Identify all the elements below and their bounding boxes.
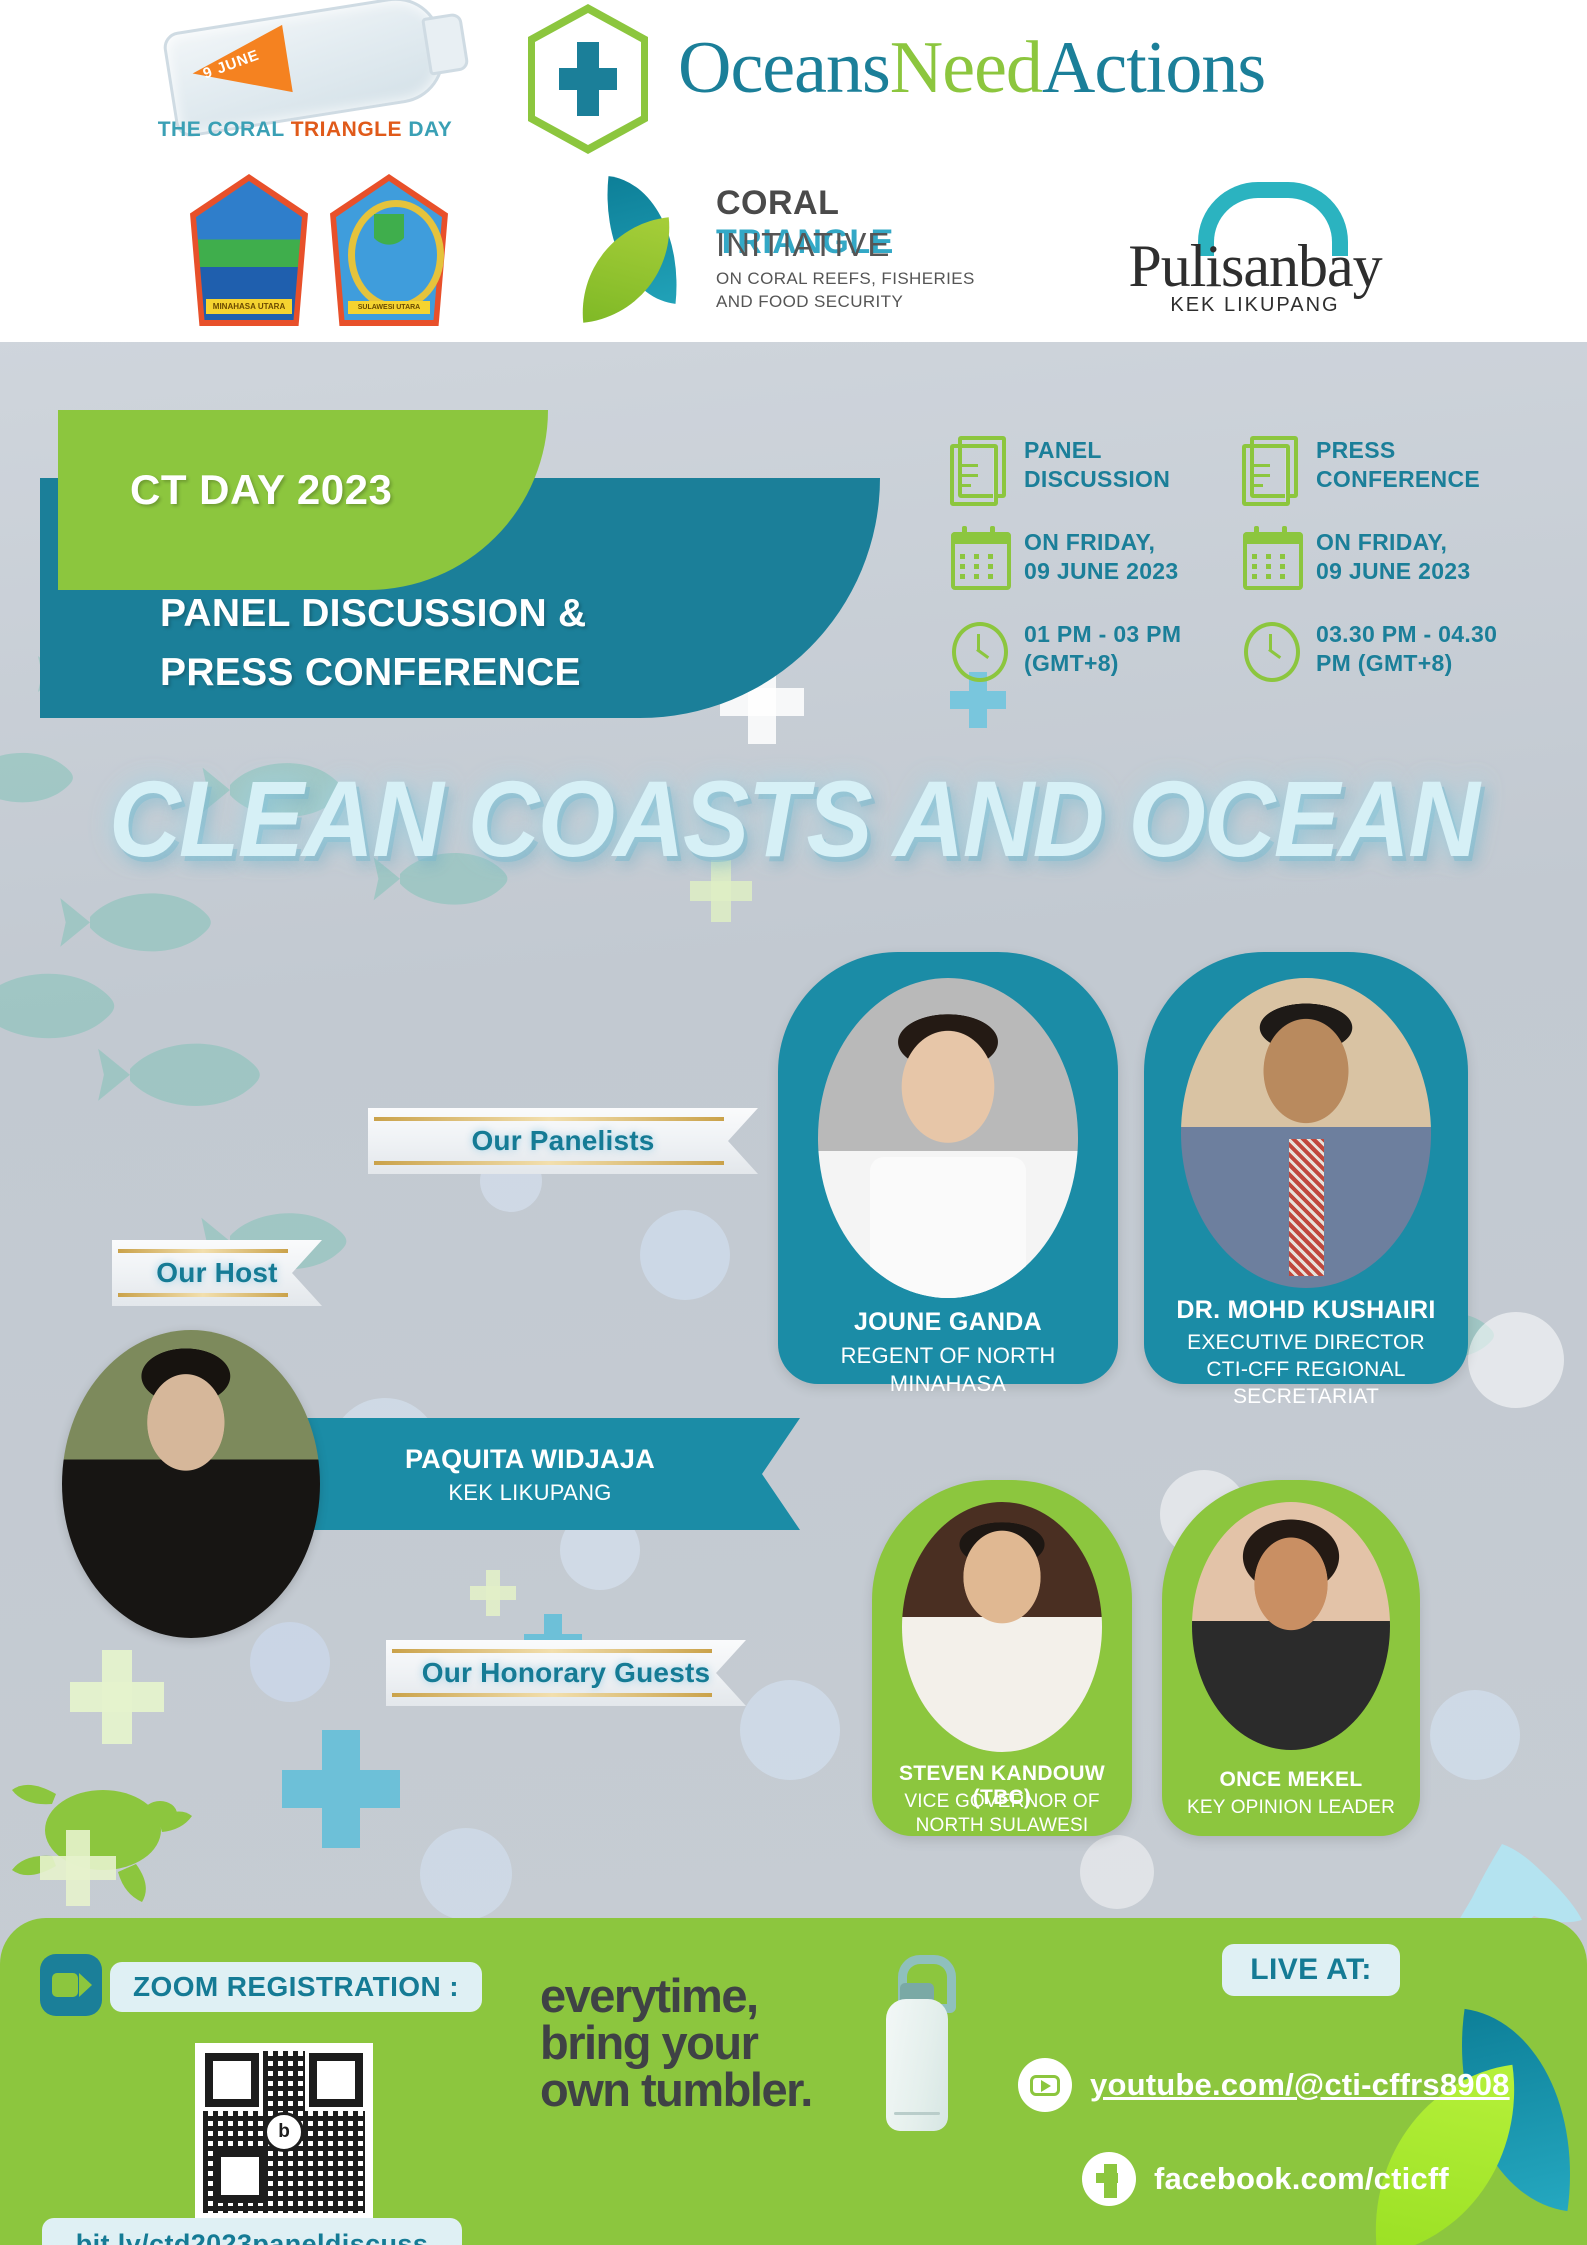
panel-kind-line2: DISCUSSION	[1024, 465, 1170, 494]
main-headline: CLEAN COASTS AND OCEAN	[63, 756, 1523, 881]
cti-leaf-icon	[1357, 2005, 1587, 2245]
panel-kind-line1: PANEL	[1024, 436, 1170, 465]
host-name: PAQUITA WIDJAJA	[300, 1444, 760, 1475]
avatar	[1192, 1502, 1390, 1750]
guest-role: VICE GOVERNOR OF NORTH SULAWESI	[878, 1790, 1126, 1839]
pulisanbay-logo: Pulisanbay KEK LIKUPANG	[1090, 182, 1420, 322]
panel-date: ON FRIDAY, 09 JUNE 2023	[1024, 524, 1178, 587]
guest-card[interactable]: STEVEN KANDOUW (TBC) VICE GOVERNOR OF NO…	[872, 1480, 1132, 1836]
panelist-role-line2: MINAHASA	[784, 1370, 1112, 1398]
guest-role-line1: VICE GOVERNOR OF	[878, 1790, 1126, 1814]
document-icon	[948, 432, 1010, 498]
host-role: KEK LIKUPANG	[300, 1480, 760, 1506]
facebook-url: facebook.com/cticff	[1154, 2161, 1449, 2197]
guest-role: KEY OPINION LEADER	[1168, 1796, 1414, 1820]
tumbler-slogan: everytime, bring your own tumbler.	[540, 1972, 812, 2113]
press-kind-line2: CONFERENCE	[1316, 465, 1480, 494]
bubble-decor	[640, 1210, 730, 1300]
oceans-need-actions-logo: OceansNeedActions	[528, 4, 1528, 156]
avatar	[1181, 978, 1431, 1288]
social-link-facebook[interactable]: facebook.com/cticff	[1082, 2152, 1449, 2206]
ctd-caption-part1: THE CORAL	[158, 118, 285, 141]
panelist-role-line3: SECRETARIAT	[1150, 1384, 1462, 1411]
social-link-youtube[interactable]: youtube.com/@cti-cffrs8908	[1018, 2058, 1510, 2112]
press-time-line1: 03.30 PM - 04.30	[1316, 620, 1497, 649]
panelist-role-line1: EXECUTIVE DIRECTOR	[1150, 1330, 1462, 1357]
sulawesi-utara-seal: SULAWESI UTARA	[330, 174, 448, 326]
section-label-host: Our Host	[112, 1240, 322, 1306]
guest-name: ONCE MEKEL	[1168, 1768, 1414, 1792]
panel-kind: PANEL DISCUSSION	[1024, 432, 1170, 495]
guest-card[interactable]: ONCE MEKEL KEY OPINION LEADER	[1162, 1480, 1420, 1836]
water-bottle-icon	[880, 1955, 954, 2131]
registration-link[interactable]: bit.ly/ctd2023paneldiscuss	[42, 2218, 462, 2245]
clock-icon	[948, 616, 1010, 682]
panelist-role: REGENT OF NORTH MINAHASA	[784, 1342, 1112, 1398]
ona-wordmark: OceansNeedActions	[678, 26, 1265, 111]
panel-date-line1: ON FRIDAY,	[1024, 528, 1178, 557]
calendar-icon	[948, 524, 1010, 590]
press-time: 03.30 PM - 04.30 PM (GMT+8)	[1316, 616, 1497, 679]
qr-center-glyph: b	[264, 2112, 304, 2152]
panelist-card[interactable]: DR. MOHD KUSHAIRI EXECUTIVE DIRECTOR CTI…	[1144, 952, 1468, 1384]
panelist-role-line1: REGENT OF NORTH	[784, 1342, 1112, 1370]
bubble-decor	[740, 1680, 840, 1780]
section-label-guests: Our Honorary Guests	[386, 1640, 746, 1706]
event-eyebrow: CT DAY 2023	[130, 466, 392, 514]
cti-leaf-icon	[570, 178, 700, 318]
plus-decor	[470, 1570, 516, 1616]
zoom-registration-text: ZOOM REGISTRATION :	[133, 1971, 459, 2003]
bubble-decor	[420, 1828, 512, 1920]
coral-triangle-day-logo: 9 JUNE THE CORAL TRIANGLE DAY	[140, 10, 470, 160]
poster-root: 9 JUNE THE CORAL TRIANGLE DAY OceansNeed…	[0, 0, 1587, 2245]
guests-label: Our Honorary Guests	[422, 1657, 711, 1689]
guest-role-line2: NORTH SULAWESI	[878, 1814, 1126, 1838]
guest-role-line1: KEY OPINION LEADER	[1168, 1796, 1414, 1820]
cti-tagline-line1: ON CORAL REEFS, FISHERIES	[716, 268, 975, 291]
seal-label: MINAHASA UTARA	[206, 299, 292, 314]
panelist-name: JOUNE GANDA	[784, 1308, 1112, 1337]
press-kind-line1: PRESS	[1316, 436, 1480, 465]
bubble-decor	[1430, 1690, 1520, 1780]
host-label: Our Host	[156, 1257, 277, 1289]
bubble-decor	[1468, 1312, 1564, 1408]
minahasa-utara-seal: MINAHASA UTARA	[190, 174, 308, 326]
hexagon-cross-icon	[528, 4, 648, 154]
ona-word-oceans: Oceans	[678, 27, 890, 109]
ona-word-actions: Actions	[1042, 27, 1265, 109]
cti-cff-logo: CORAL TRIANGLE INITIATIVE ON CORAL REEFS…	[570, 178, 1000, 328]
avatar	[818, 978, 1078, 1298]
tumbler-line3: own tumbler.	[540, 2066, 812, 2113]
plus-decor	[282, 1730, 400, 1848]
clock-icon	[1240, 616, 1302, 682]
ctd-caption-part2: TRIANGLE	[291, 118, 402, 141]
cti-word-coral: CORAL	[716, 184, 839, 222]
event-title-line2: PRESS CONFERENCE	[160, 644, 587, 703]
plus-decor	[70, 1650, 164, 1744]
cti-tagline: ON CORAL REEFS, FISHERIES AND FOOD SECUR…	[716, 268, 975, 314]
panelist-role-line2: CTI-CFF REGIONAL	[1150, 1357, 1462, 1384]
ctd-caption-part3: DAY	[408, 118, 452, 141]
plus-decor	[40, 1830, 116, 1906]
panel-time-line1: 01 PM - 03 PM	[1024, 620, 1181, 649]
panelists-label: Our Panelists	[471, 1125, 654, 1157]
registration-link-text: bit.ly/ctd2023paneldiscuss	[76, 2229, 429, 2245]
cti-line2: INITIATIVE	[716, 226, 890, 264]
panelist-card[interactable]: JOUNE GANDA REGENT OF NORTH MINAHASA	[778, 952, 1118, 1384]
press-time-line2: PM (GMT+8)	[1316, 649, 1497, 678]
event-title: PANEL DISCUSSION & PRESS CONFERENCE	[160, 585, 587, 702]
press-kind: PRESS CONFERENCE	[1316, 432, 1480, 495]
live-at-text: LIVE AT:	[1250, 1953, 1372, 1987]
host-name-band[interactable]: PAQUITA WIDJAJA KEK LIKUPANG	[300, 1418, 800, 1530]
qr-code[interactable]: b	[195, 2043, 373, 2221]
tumbler-line1: everytime,	[540, 1972, 812, 2019]
cti-tagline-line2: AND FOOD SECURITY	[716, 291, 975, 314]
youtube-url: youtube.com/@cti-cffrs8908	[1090, 2067, 1510, 2103]
panel-time-line2: (GMT+8)	[1024, 649, 1181, 678]
avatar	[62, 1330, 320, 1638]
avatar	[902, 1502, 1102, 1752]
calendar-icon	[1240, 524, 1302, 590]
section-label-panelists: Our Panelists	[368, 1108, 758, 1174]
panel-date-line2: 09 JUNE 2023	[1024, 557, 1178, 586]
facebook-icon	[1082, 2152, 1136, 2206]
ctd-caption: THE CORAL TRIANGLE DAY	[140, 118, 470, 142]
youtube-icon	[1018, 2058, 1072, 2112]
document-icon	[1240, 432, 1302, 498]
zoom-registration-label: ZOOM REGISTRATION :	[110, 1962, 482, 2012]
logo-header: 9 JUNE THE CORAL TRIANGLE DAY OceansNeed…	[0, 0, 1587, 342]
tumbler-line2: bring your	[540, 2019, 812, 2066]
live-at-label: LIVE AT:	[1222, 1944, 1400, 1996]
bubble-decor	[1080, 1835, 1154, 1909]
event-title-line1: PANEL DISCUSSION &	[160, 585, 587, 644]
panelist-role: EXECUTIVE DIRECTOR CTI-CFF REGIONAL SECR…	[1150, 1330, 1462, 1411]
press-date-line1: ON FRIDAY,	[1316, 528, 1470, 557]
ona-word-need: Need	[890, 27, 1042, 109]
pulisanbay-sub: KEK LIKUPANG	[1090, 294, 1420, 317]
seal-label: SULAWESI UTARA	[348, 301, 430, 314]
press-date-line2: 09 JUNE 2023	[1316, 557, 1470, 586]
press-date: ON FRIDAY, 09 JUNE 2023	[1316, 524, 1470, 587]
panelist-name: DR. MOHD KUSHAIRI	[1150, 1296, 1462, 1325]
pulisanbay-name: Pulisanbay	[1090, 232, 1420, 301]
zoom-camera-icon	[40, 1954, 102, 2016]
panel-time: 01 PM - 03 PM (GMT+8)	[1024, 616, 1181, 679]
